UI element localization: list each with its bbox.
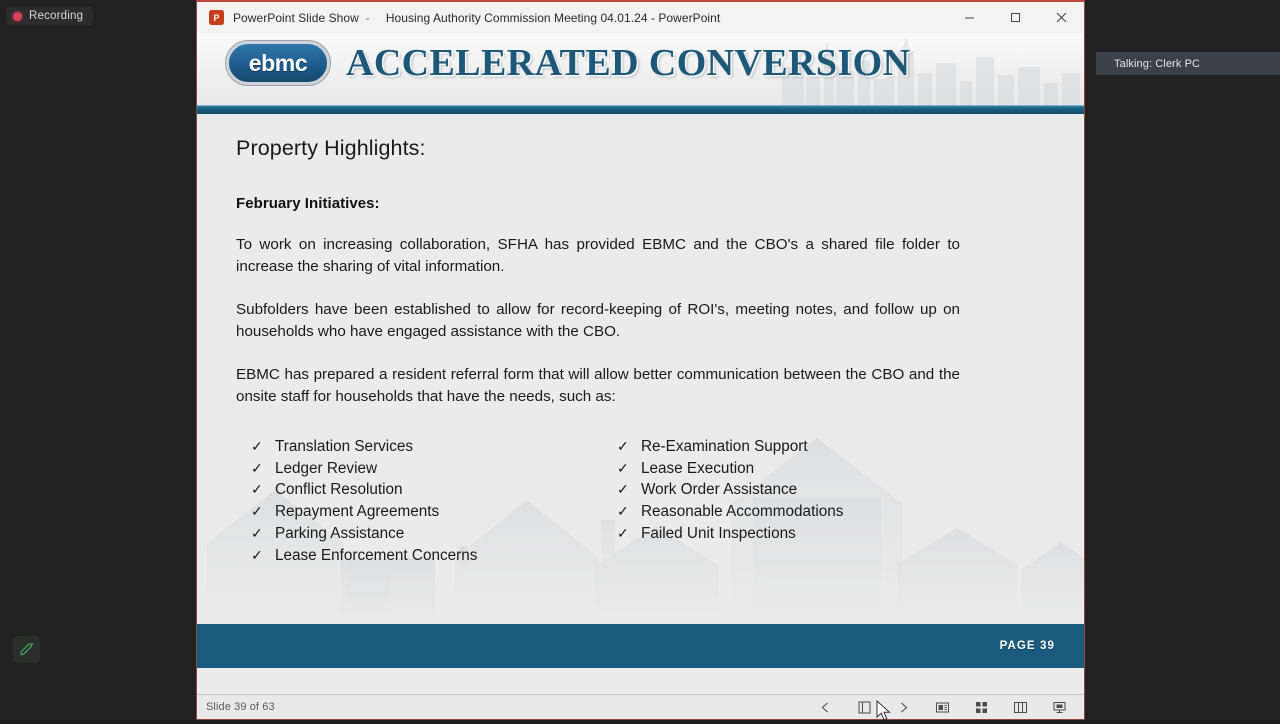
- chevron-right-icon: [897, 701, 910, 714]
- talking-indicator: Talking: Clerk PC: [1096, 52, 1280, 75]
- slide-brand-row: ebmc ACCELERATED CONVERSION: [226, 41, 910, 85]
- slide-counter-label: Slide 39 of 63: [206, 701, 275, 713]
- maximize-icon: [1010, 12, 1021, 23]
- list-item: ✓ Conflict Resolution: [236, 479, 602, 501]
- check-icon: ✓: [251, 436, 262, 457]
- zoom-slide-button[interactable]: [1009, 698, 1031, 718]
- window-controls: [946, 2, 1084, 33]
- recording-dot-icon: [13, 12, 22, 21]
- list-item-label: Reasonable Accommodations: [641, 502, 843, 523]
- ebmc-logo: ebmc: [226, 41, 330, 85]
- list-item: ✓ Work Order Assistance: [602, 479, 972, 501]
- list-item: ✓ Ledger Review: [236, 458, 602, 480]
- check-icon: ✓: [251, 501, 262, 522]
- list-item-label: Repayment Agreements: [275, 502, 439, 523]
- checklist-left-column: ✓ Translation Services ✓ Ledger Review ✓…: [236, 436, 602, 566]
- minimize-icon: [964, 12, 975, 23]
- slide-body: Property Highlights: February Initiative…: [197, 114, 1084, 668]
- list-item-label: Re-Examination Support: [641, 437, 808, 458]
- pen-tools-icon: [857, 700, 872, 715]
- pen-icon: [18, 641, 35, 658]
- check-icon: ✓: [617, 501, 628, 522]
- check-icon: ✓: [251, 479, 262, 500]
- checklist-right-column: ✓ Re-Examination Support ✓ Lease Executi…: [602, 436, 972, 566]
- ebmc-logo-text: ebmc: [249, 50, 307, 77]
- slide-banner-title: ACCELERATED CONVERSION: [346, 41, 910, 85]
- paragraph-2: Subfolders have been established to allo…: [236, 299, 960, 342]
- check-icon: ✓: [617, 436, 628, 457]
- window-titlebar[interactable]: P PowerPoint Slide Show - Housing Author…: [197, 2, 1084, 33]
- next-slide-button[interactable]: [892, 698, 914, 718]
- all-slides-grid-button[interactable]: [970, 698, 992, 718]
- slide-canvas[interactable]: ebmc ACCELERATED CONVERSION: [197, 33, 1084, 694]
- recording-indicator: Recording: [6, 7, 93, 25]
- list-item-label: Work Order Assistance: [641, 480, 797, 501]
- recording-label: Recording: [29, 10, 83, 22]
- window-app-name: PowerPoint Slide Show: [233, 11, 359, 25]
- pen-annotation-tool-button[interactable]: [13, 636, 40, 663]
- close-button[interactable]: [1038, 2, 1084, 33]
- list-item: ✓ Repayment Agreements: [236, 501, 602, 523]
- powerpoint-slideshow-window: P PowerPoint Slide Show - Housing Author…: [196, 0, 1085, 720]
- list-item-label: Conflict Resolution: [275, 480, 403, 501]
- check-icon: ✓: [251, 523, 262, 544]
- check-icon: ✓: [251, 545, 262, 566]
- checklist-columns: ✓ Translation Services ✓ Ledger Review ✓…: [236, 436, 1040, 566]
- list-item-label: Lease Enforcement Concerns: [275, 546, 477, 567]
- maximize-button[interactable]: [992, 2, 1038, 33]
- chevron-left-icon: [819, 701, 832, 714]
- previous-slide-button[interactable]: [814, 698, 836, 718]
- window-document-title: Housing Authority Commission Meeting 04.…: [386, 11, 720, 25]
- presenter-view-icon: [1052, 700, 1067, 715]
- list-item: ✓ Re-Examination Support: [602, 436, 972, 458]
- more-options-button[interactable]: [1048, 698, 1070, 718]
- list-item-label: Translation Services: [275, 437, 413, 458]
- slideshow-toolbar: Slide 39 of 63: [197, 694, 1084, 719]
- grid-icon: [974, 700, 989, 715]
- list-item: ✓ Translation Services: [236, 436, 602, 458]
- list-item: ✓ Lease Execution: [602, 458, 972, 480]
- check-icon: ✓: [617, 479, 628, 500]
- minimize-button[interactable]: [946, 2, 992, 33]
- pen-tools-button[interactable]: [853, 698, 875, 718]
- list-item-label: Lease Execution: [641, 459, 754, 480]
- slide-notes-button[interactable]: [931, 698, 953, 718]
- paragraph-1: To work on increasing collaboration, SFH…: [236, 234, 960, 277]
- slide-page-number: PAGE 39: [1000, 640, 1055, 652]
- slideshow-toolbar-buttons: [814, 695, 1070, 720]
- check-icon: ✓: [617, 523, 628, 544]
- paragraph-3: EBMC has prepared a resident referral fo…: [236, 364, 960, 407]
- close-icon: [1056, 12, 1067, 23]
- list-item: ✓ Reasonable Accommodations: [602, 501, 972, 523]
- list-item-label: Ledger Review: [275, 459, 377, 480]
- list-item: ✓ Failed Unit Inspections: [602, 523, 972, 545]
- slide-title: Property Highlights:: [236, 136, 1040, 161]
- check-icon: ✓: [617, 458, 628, 479]
- notes-icon: [935, 700, 950, 715]
- slide-text-content: Property Highlights: February Initiative…: [197, 114, 1084, 566]
- talking-label: Talking: Clerk PC: [1114, 58, 1200, 70]
- titlebar-separator: -: [366, 11, 370, 25]
- magnify-slide-icon: [1013, 700, 1028, 715]
- list-item: ✓ Lease Enforcement Concerns: [236, 545, 602, 567]
- powerpoint-app-icon: P: [209, 10, 224, 25]
- slide-header-divider: [197, 105, 1084, 114]
- check-icon: ✓: [251, 458, 262, 479]
- list-item-label: Parking Assistance: [275, 524, 404, 545]
- list-item-label: Failed Unit Inspections: [641, 524, 796, 545]
- slide-subheading: February Initiatives:: [236, 195, 1040, 212]
- slide-header-band: ebmc ACCELERATED CONVERSION: [197, 33, 1084, 105]
- slide-footer-band: PAGE 39: [197, 624, 1084, 668]
- list-item: ✓ Parking Assistance: [236, 523, 602, 545]
